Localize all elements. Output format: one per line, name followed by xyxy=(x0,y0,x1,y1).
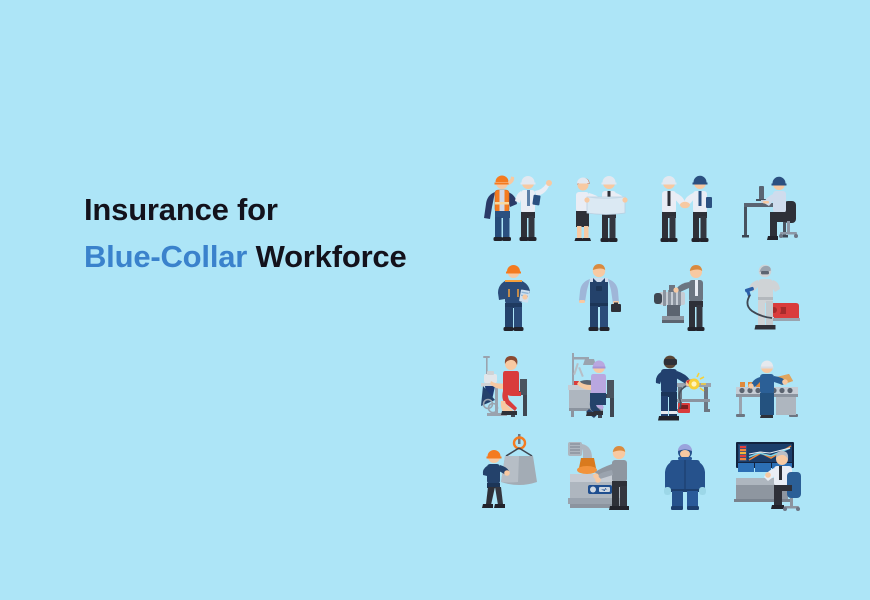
illustration-cell xyxy=(642,339,727,429)
illustration-cell xyxy=(727,339,812,429)
page-title: Insurance for Blue-Collar Workforce xyxy=(84,186,464,280)
sewing-machine-icon xyxy=(475,341,555,427)
blueprint-pair-icon xyxy=(560,162,640,248)
protective-suit-icon xyxy=(645,430,725,516)
illustration-cell xyxy=(642,250,727,340)
illustration-cell xyxy=(557,160,642,250)
illustration-cell xyxy=(727,160,812,250)
industrial-press-icon xyxy=(560,430,640,516)
headline-line-2-rest: Workforce xyxy=(247,239,406,274)
illustration-cell xyxy=(472,160,557,250)
illustration-cell xyxy=(472,250,557,340)
illustration-cell xyxy=(727,429,812,519)
conveyor-belt-icon xyxy=(730,341,810,427)
banner: Insurance for Blue-Collar Workforce xyxy=(0,0,870,600)
machine-operator-icon xyxy=(645,251,725,337)
mechanic-toolbox-icon xyxy=(560,251,640,337)
illustration-cell xyxy=(472,339,557,429)
welder-icon xyxy=(645,341,725,427)
illustration-cell xyxy=(642,160,727,250)
illustration-cell xyxy=(557,250,642,340)
workbench-lamp-icon xyxy=(560,341,640,427)
illustration-grid xyxy=(472,160,812,518)
illustration-cell xyxy=(472,429,557,519)
headline-line-2: Blue-Collar Workforce xyxy=(84,233,464,280)
illustration-cell xyxy=(557,429,642,519)
illustration-cell xyxy=(642,429,727,519)
control-room-icon xyxy=(730,430,810,516)
headline-accent: Blue-Collar xyxy=(84,239,247,274)
foreman-clipboard-icon xyxy=(475,251,555,337)
handshake-icon xyxy=(645,162,725,248)
crane-load-icon xyxy=(475,430,555,516)
headline-line-1: Insurance for xyxy=(84,186,464,233)
illustration-cell xyxy=(557,339,642,429)
spray-painter-icon xyxy=(730,251,810,337)
illustration-cell xyxy=(727,250,812,340)
desk-computer-icon xyxy=(730,162,810,248)
worker-vest-supervisor-icon xyxy=(475,162,555,248)
